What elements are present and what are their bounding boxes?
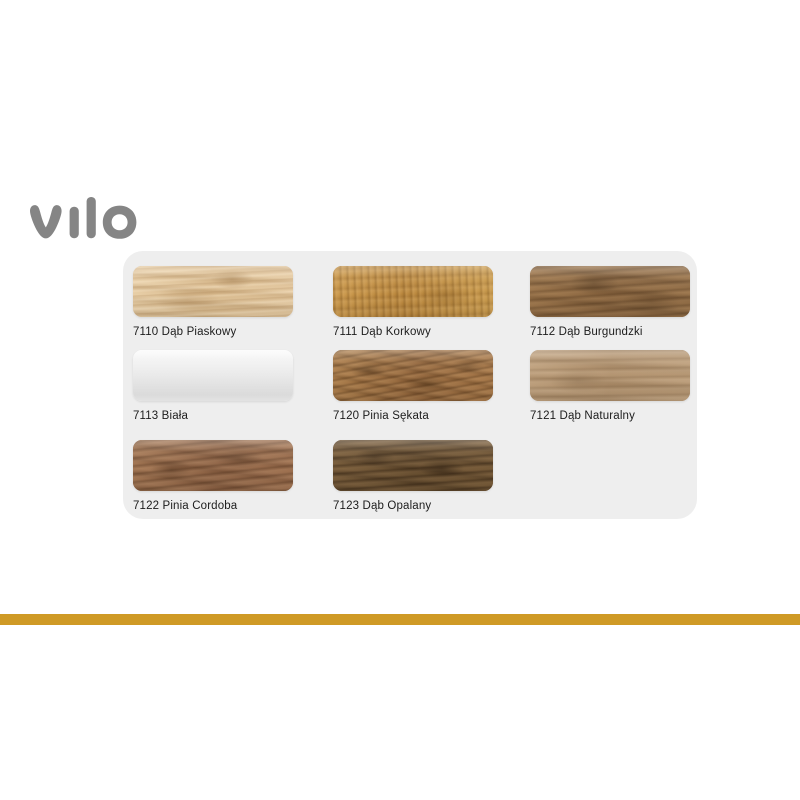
brand-logo (28, 197, 148, 253)
chip-sheen (333, 266, 493, 317)
swatch-item-7113[interactable]: 7113 Biała (133, 350, 293, 422)
swatch-item-7121[interactable]: 7121 Dąb Naturalny (530, 350, 690, 422)
swatch-label: 7121 Dąb Naturalny (530, 410, 690, 422)
swatch-label: 7120 Pinia Sękata (333, 410, 493, 422)
chip-sheen (133, 266, 293, 317)
swatch-label: 7123 Dąb Opalany (333, 500, 493, 512)
swatch-label: 7110 Dąb Piaskowy (133, 326, 293, 338)
swatch-label: 7112 Dąb Burgundzki (530, 326, 690, 338)
swatch-item-7122[interactable]: 7122 Pinia Cordoba (133, 440, 293, 512)
swatch-chip-7123[interactable] (333, 440, 493, 491)
chip-sheen (530, 350, 690, 401)
colour-swatch-panel: 7110 Dąb Piaskowy 7111 Dąb Korkowy 7112 … (123, 251, 697, 519)
chip-sheen (333, 350, 493, 401)
swatch-item-7112[interactable]: 7112 Dąb Burgundzki (530, 266, 690, 338)
chip-sheen (530, 266, 690, 317)
chip-sheen (133, 440, 293, 491)
swatch-chip-7110[interactable] (133, 266, 293, 317)
swatch-item-7111[interactable]: 7111 Dąb Korkowy (333, 266, 493, 338)
vilo-wordmark-icon (28, 197, 148, 253)
swatch-label: 7122 Pinia Cordoba (133, 500, 293, 512)
swatch-chip-7112[interactable] (530, 266, 690, 317)
swatch-label: 7111 Dąb Korkowy (333, 326, 493, 338)
swatch-chip-7120[interactable] (333, 350, 493, 401)
chip-sheen (333, 440, 493, 491)
swatch-chip-7122[interactable] (133, 440, 293, 491)
swatch-grid: 7110 Dąb Piaskowy 7111 Dąb Korkowy 7112 … (123, 251, 697, 519)
swatch-chip-7113[interactable] (133, 350, 293, 401)
accent-bar (0, 614, 800, 625)
swatch-chip-7121[interactable] (530, 350, 690, 401)
swatch-item-7110[interactable]: 7110 Dąb Piaskowy (133, 266, 293, 338)
chip-sheen (133, 350, 293, 401)
swatch-label: 7113 Biała (133, 410, 293, 422)
swatch-item-7123[interactable]: 7123 Dąb Opalany (333, 440, 493, 512)
swatch-chip-7111[interactable] (333, 266, 493, 317)
swatch-item-7120[interactable]: 7120 Pinia Sękata (333, 350, 493, 422)
